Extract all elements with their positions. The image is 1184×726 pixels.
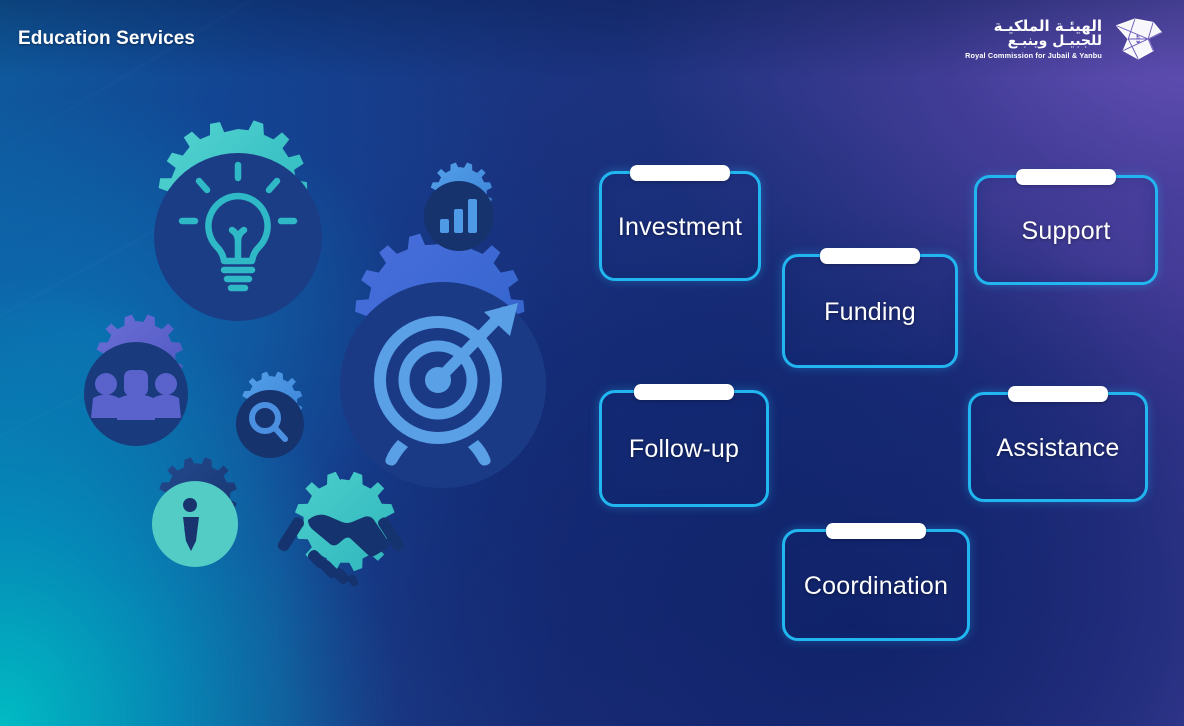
card-top-tab: [630, 165, 730, 181]
card-top-tab: [1016, 169, 1116, 185]
service-card[interactable]: Funding: [782, 254, 958, 368]
gear-information: [152, 457, 238, 567]
gear-illustration-cluster: [0, 0, 620, 726]
service-card-label: Investment: [618, 211, 742, 242]
slide-canvas: Education Services الهيئـة الملكيـة للجب…: [0, 0, 1184, 726]
card-top-tab: [820, 248, 920, 264]
logo-text-block: الهيئـة الملكيـة للجبيـل وينبـع Royal Co…: [965, 19, 1102, 59]
gear-idea-lightbulb: [154, 120, 322, 321]
service-card[interactable]: Assistance: [968, 392, 1148, 502]
service-card-label: Follow-up: [629, 433, 739, 464]
service-card[interactable]: Investment: [599, 171, 761, 281]
gear-search: [236, 372, 304, 458]
service-card[interactable]: Support: [974, 175, 1158, 285]
gear-illustration-svg: [0, 0, 620, 726]
organization-logo: الهيئـة الملكيـة للجبيـل وينبـع Royal Co…: [965, 14, 1168, 64]
logo-arabic-line-2: للجبيـل وينبـع: [965, 34, 1102, 48]
service-card-label: Assistance: [997, 432, 1120, 463]
service-card-label: Coordination: [804, 570, 948, 601]
card-top-tab: [826, 523, 926, 539]
logo-arabic-line-1: الهيئـة الملكيـة: [965, 19, 1102, 34]
gear-team-people: [84, 315, 188, 447]
service-card-label: Funding: [824, 296, 916, 327]
gear-analytics-chart: [424, 163, 494, 252]
service-card[interactable]: Coordination: [782, 529, 970, 641]
gear-target-goal: [340, 234, 546, 488]
card-top-tab: [634, 384, 734, 400]
royal-commission-emblem-icon: [1110, 14, 1168, 64]
logo-english-name: Royal Commission for Jubail & Yanbu: [965, 52, 1102, 59]
service-card-label: Support: [1022, 215, 1111, 246]
card-top-tab: [1008, 386, 1108, 402]
service-card[interactable]: Follow-up: [599, 390, 769, 507]
gear-partnership: [278, 472, 404, 587]
